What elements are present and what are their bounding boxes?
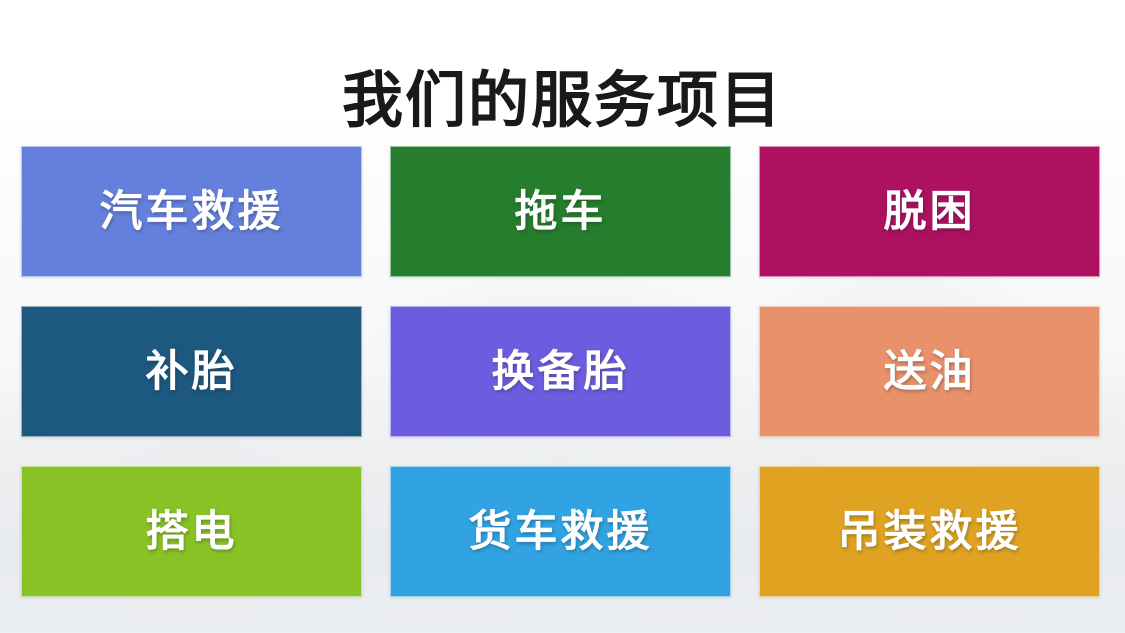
service-tile-label: 换备胎: [492, 347, 630, 397]
service-tile-label: 拖车: [515, 187, 607, 237]
service-tile-fuel-delivery[interactable]: 送油: [759, 306, 1100, 437]
service-tile-label: 补胎: [146, 347, 238, 397]
service-tile-spare-tire-change[interactable]: 换备胎: [390, 306, 731, 437]
service-tile-label: 脱困: [884, 187, 976, 237]
service-poster: 我们的服务项目 汽车救援 拖车 脱困 补胎 换备胎 送油 搭电 货车救援 吊装救…: [0, 0, 1125, 633]
service-tile-label: 货车救援: [469, 507, 653, 557]
service-tile-label: 送油: [884, 347, 976, 397]
service-tile-label: 搭电: [146, 507, 238, 557]
service-tile-extrication[interactable]: 脱困: [759, 146, 1100, 277]
service-tile-label: 吊装救援: [838, 507, 1022, 557]
service-tile-tow-truck[interactable]: 拖车: [390, 146, 731, 277]
service-tile-tire-repair[interactable]: 补胎: [21, 306, 362, 437]
service-tile-hoisting-rescue[interactable]: 吊装救援: [759, 466, 1100, 597]
service-tile-car-rescue[interactable]: 汽车救援: [21, 146, 362, 277]
service-tile-grid: 汽车救援 拖车 脱困 补胎 换备胎 送油 搭电 货车救援 吊装救援: [21, 146, 1101, 598]
page-title: 我们的服务项目: [0, 63, 1125, 139]
service-tile-truck-rescue[interactable]: 货车救援: [390, 466, 731, 597]
service-tile-label: 汽车救援: [100, 187, 284, 237]
service-tile-jump-start[interactable]: 搭电: [21, 466, 362, 597]
